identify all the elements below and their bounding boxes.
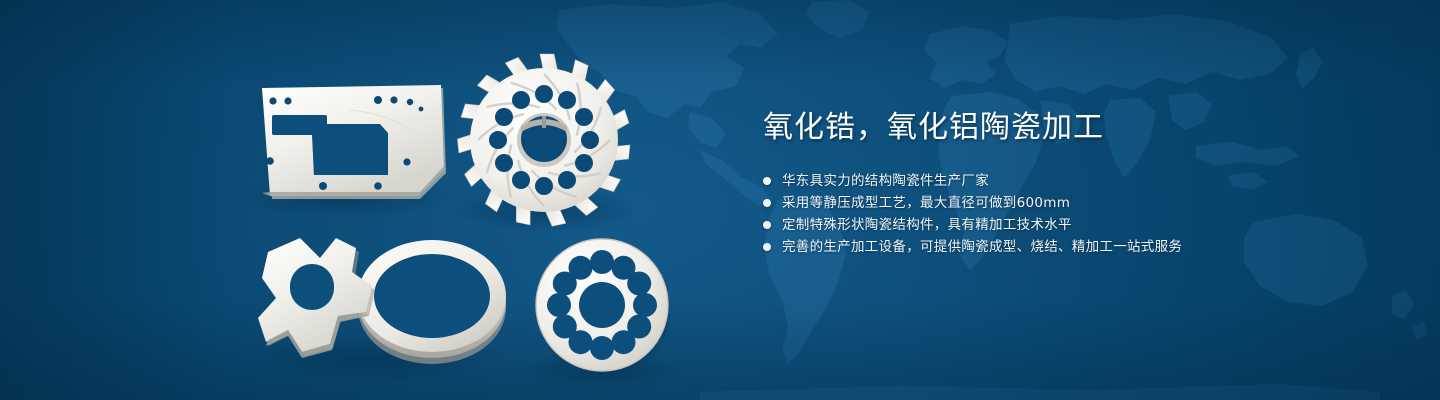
- product-photo-group: [0, 0, 760, 400]
- banner-headline: 氧化锆，氧化铝陶瓷加工: [763, 108, 1383, 148]
- feature-list: 华东具实力的结构陶瓷件生产厂家 采用等静压成型工艺，最大直径可做到600mm 定…: [763, 170, 1383, 258]
- bullet-dot-icon: [763, 221, 771, 229]
- bullet-dot-icon: [763, 177, 771, 185]
- list-item: 华东具实力的结构陶瓷件生产厂家: [763, 170, 1383, 192]
- ceramic-plate-part: [262, 85, 446, 199]
- bullet-dot-icon: [763, 243, 771, 251]
- list-item-label: 完善的生产加工设备，可提供陶瓷成型、烧结、精加工一站式服务: [782, 236, 1182, 258]
- list-item: 采用等静压成型工艺，最大直径可做到600mm: [763, 192, 1383, 214]
- ceramic-perforated-disc-part: [536, 239, 670, 377]
- list-item-label: 定制特殊形状陶瓷结构件，具有精加工技术水平: [782, 214, 1072, 236]
- list-item-label: 华东具实力的结构陶瓷件生产厂家: [782, 170, 989, 192]
- list-item-label: 采用等静压成型工艺，最大直径可做到600mm: [782, 192, 1070, 214]
- ceramic-ring-part: [358, 240, 506, 364]
- bullet-dot-icon: [763, 199, 771, 207]
- promo-banner: 氧化锆，氧化铝陶瓷加工 华东具实力的结构陶瓷件生产厂家 采用等静压成型工艺，最大…: [0, 0, 1440, 400]
- banner-copy: 氧化锆，氧化铝陶瓷加工 华东具实力的结构陶瓷件生产厂家 采用等静压成型工艺，最大…: [763, 108, 1383, 258]
- list-item: 完善的生产加工设备，可提供陶瓷成型、烧结、精加工一站式服务: [763, 236, 1383, 258]
- list-item: 定制特殊形状陶瓷结构件，具有精加工技术水平: [763, 214, 1383, 236]
